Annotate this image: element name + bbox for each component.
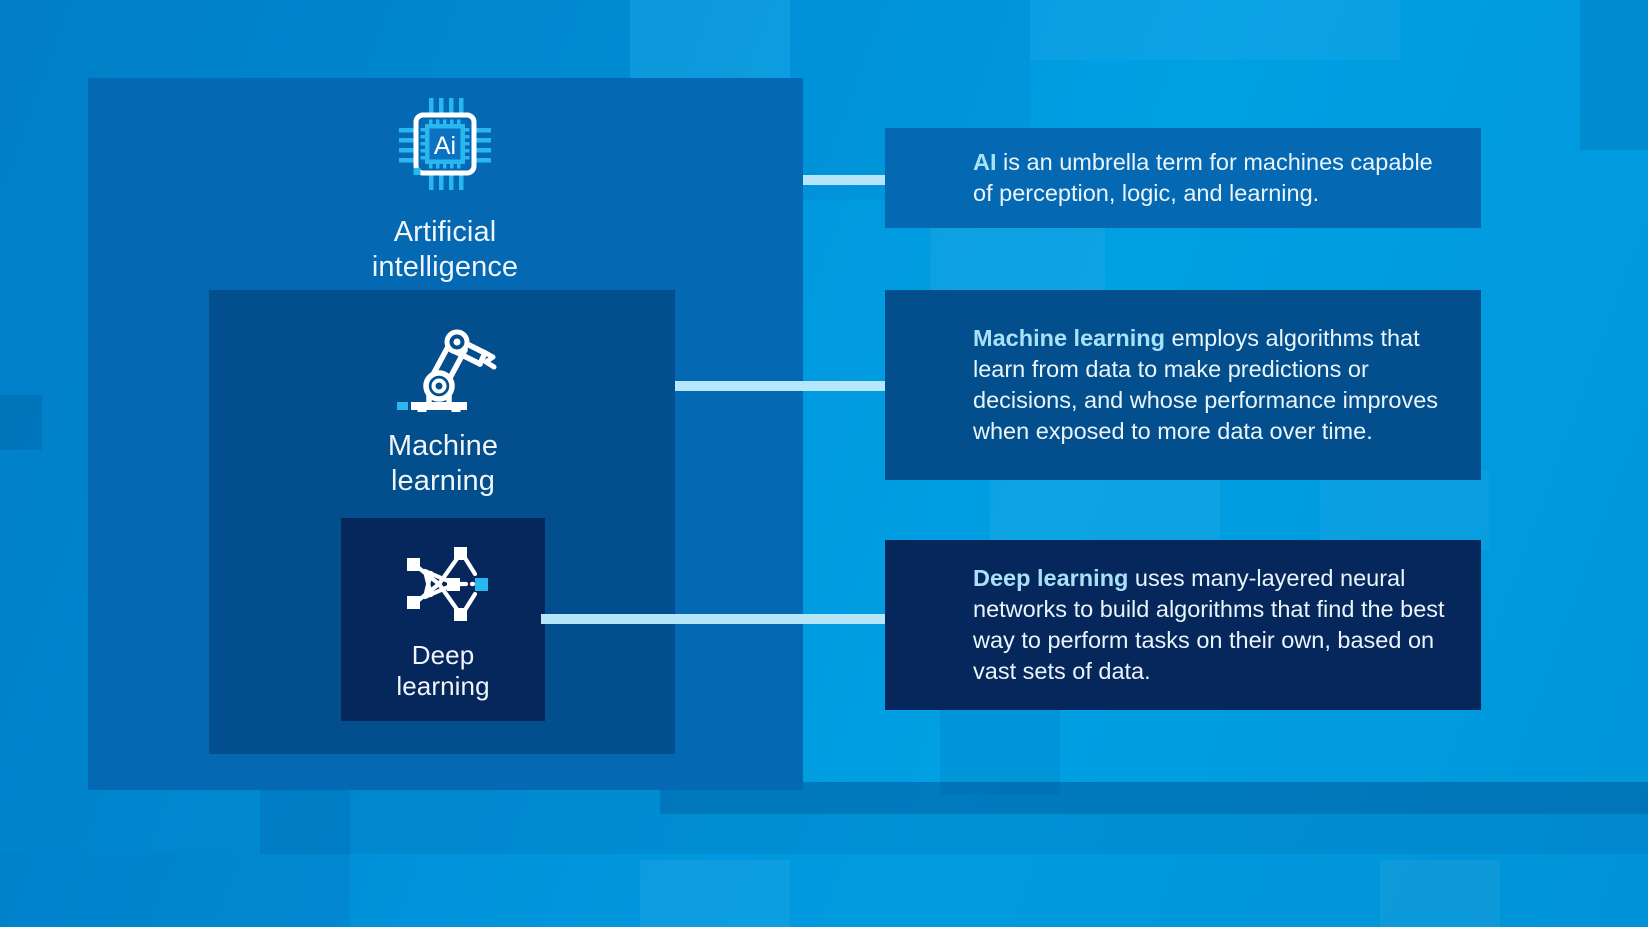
callout-lead: Deep learning bbox=[973, 565, 1128, 591]
callout-machine-learning[interactable]: Machine learning employs algorithms that… bbox=[885, 290, 1481, 480]
node-label-artificial-intelligence: Artificial intelligence bbox=[372, 215, 518, 285]
callout-text: Deep learning uses many-layered neural n… bbox=[973, 563, 1453, 687]
ai-chip-icon: Ai bbox=[393, 92, 497, 201]
bg-block bbox=[1380, 860, 1500, 927]
callout-body: is an umbrella term for machines capable… bbox=[973, 149, 1433, 206]
bg-block bbox=[640, 860, 790, 927]
label-line: learning bbox=[396, 671, 489, 702]
node-machine-learning[interactable]: Machine learning bbox=[328, 310, 558, 499]
node-deep-learning[interactable]: Deep learning bbox=[330, 543, 556, 702]
node-artificial-intelligence[interactable]: Ai Artificial intelligence bbox=[330, 92, 560, 285]
callout-text: AI is an umbrella term for machines capa… bbox=[973, 147, 1453, 209]
callout-artificial-intelligence[interactable]: AI is an umbrella term for machines capa… bbox=[885, 128, 1481, 228]
callout-text: Machine learning employs algorithms that… bbox=[973, 323, 1453, 447]
bg-block bbox=[990, 480, 1220, 540]
bg-block bbox=[1580, 0, 1648, 150]
callout-lead: Machine learning bbox=[973, 325, 1165, 351]
callout-lead: AI bbox=[973, 149, 997, 175]
label-line: intelligence bbox=[372, 250, 518, 285]
bg-block bbox=[1030, 0, 1400, 60]
label-line: learning bbox=[388, 464, 498, 499]
neural-network-icon bbox=[395, 543, 491, 630]
neural-network-accent-node bbox=[475, 578, 488, 591]
bg-block bbox=[350, 0, 630, 80]
infographic-canvas: Ai Artificial intelligence bbox=[0, 0, 1648, 927]
robot-arm-icon bbox=[389, 310, 497, 417]
label-line: Artificial bbox=[372, 215, 518, 250]
bg-block bbox=[1320, 470, 1490, 550]
bg-block bbox=[660, 782, 1648, 814]
label-line: Deep bbox=[396, 640, 489, 671]
node-label-machine-learning: Machine learning bbox=[388, 429, 498, 499]
ai-chip-icon-text: Ai bbox=[434, 132, 456, 160]
bg-block bbox=[0, 395, 42, 450]
callout-deep-learning[interactable]: Deep learning uses many-layered neural n… bbox=[885, 540, 1481, 710]
label-line: Machine bbox=[388, 429, 498, 464]
node-label-deep-learning: Deep learning bbox=[396, 640, 489, 702]
